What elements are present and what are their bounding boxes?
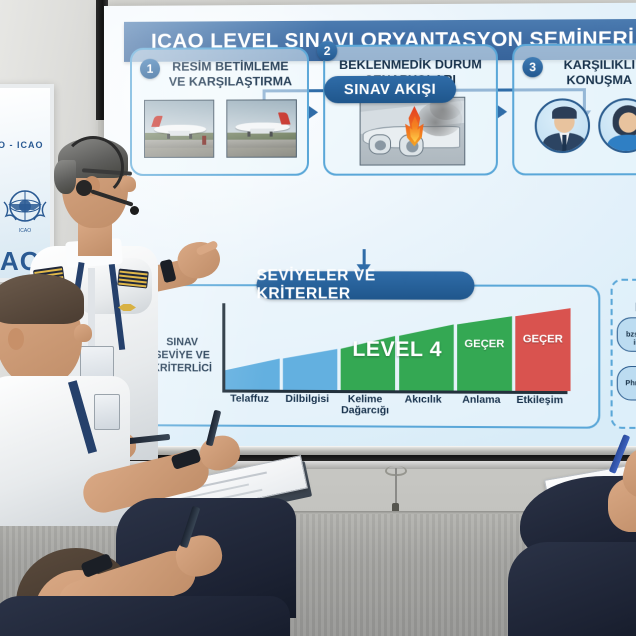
step-number-badge-3: 3 (522, 57, 542, 77)
section-header-levels: SEVİYELER VE KRİTERLER (257, 271, 475, 300)
chart-bars: GEÇERGEÇERLEVEL 4 (225, 303, 570, 391)
flow-arrow-step2-to-3 (497, 105, 507, 119)
section-header-levels-label: SEVİYELER VE KRİTERLER (257, 267, 475, 304)
flow-step-title-3-line1: KARŞILIKLI (535, 57, 636, 72)
chart-category-label: Anlama (454, 395, 509, 407)
chart-bar[interactable]: GEÇER (515, 308, 570, 391)
chart-bar-value-label: GEÇER (457, 338, 512, 350)
chart-category-label: Akıcılık (396, 394, 451, 406)
conference-room: ICAO LEVEL SINAVI ORYANTASYON SEMİNERİ S… (0, 0, 636, 636)
attendee-fore-trousers (0, 596, 290, 636)
levels-bar-chart[interactable]: GEÇERGEÇERLEVEL 4 TelaffuzDilbilgisiKeli… (222, 301, 575, 423)
engine-fire-illustration (360, 97, 466, 166)
step-number-badge-2: 2 (317, 41, 337, 61)
flow-step-title-1-line2: VE KARŞILAŞTIRMA (154, 74, 307, 89)
attendee-right-leg-lower (508, 542, 636, 636)
flow-step-title-3-line2: KONUŞMA (535, 72, 636, 87)
chart-bar-value-label: GEÇER (515, 333, 570, 345)
chart-bar[interactable] (341, 336, 396, 391)
microphone-tip (130, 206, 139, 215)
flow-step-card-2[interactable]: 2 BEKLENMEDİK DURUM SENARYOLARI (323, 44, 498, 176)
plain-english-title-line1: PLAIN ENGLISH (611, 287, 636, 302)
chart-bar[interactable] (283, 349, 338, 390)
flow-step-title-1-line1: RESİM BETİMLEME (154, 59, 307, 74)
headset-icon (62, 136, 124, 198)
airplane-photo-2 (226, 99, 297, 157)
chart-category-label: Etkileşim (512, 395, 567, 407)
attendee-left-badge (94, 394, 120, 430)
flow-step-card-3[interactable]: 3 KARŞILIKLI KONUŞMA (512, 43, 636, 175)
section-header-flow-label: SINAV AKIŞI (344, 81, 436, 97)
flow-arrow-step1-to-2 (308, 105, 318, 119)
flow-step-title-2-line1: BEKLENMEDİK DURUM (325, 57, 496, 72)
avatar-person-female (598, 98, 636, 153)
plain-english-title-line2: PHRASEOLOGY (611, 301, 636, 316)
screen-pull-cord[interactable] (395, 468, 397, 506)
chart-bar[interactable] (399, 324, 454, 390)
chart-bar[interactable]: GEÇER (457, 316, 512, 391)
chart-category-label: Dilbilgisi (280, 394, 335, 406)
headset-earpiece (76, 180, 92, 196)
avatar-person-male (535, 98, 590, 153)
speech-bubble-bottom-left: Plain Phraseology loedi (617, 366, 636, 401)
attendee-left-hair (0, 274, 84, 324)
attendee-right (512, 438, 636, 636)
plain-english-title: PLAIN ENGLISH PHRASEOLOGY (611, 287, 636, 316)
section-header-flow: SINAV AKIŞI (324, 76, 456, 104)
step-number-badge-1: 1 (140, 59, 160, 79)
speech-bubble-top-left: Resim bzsktaiharm incident (617, 317, 636, 352)
chart-category-label: KelimeDağarcığı (338, 394, 393, 417)
